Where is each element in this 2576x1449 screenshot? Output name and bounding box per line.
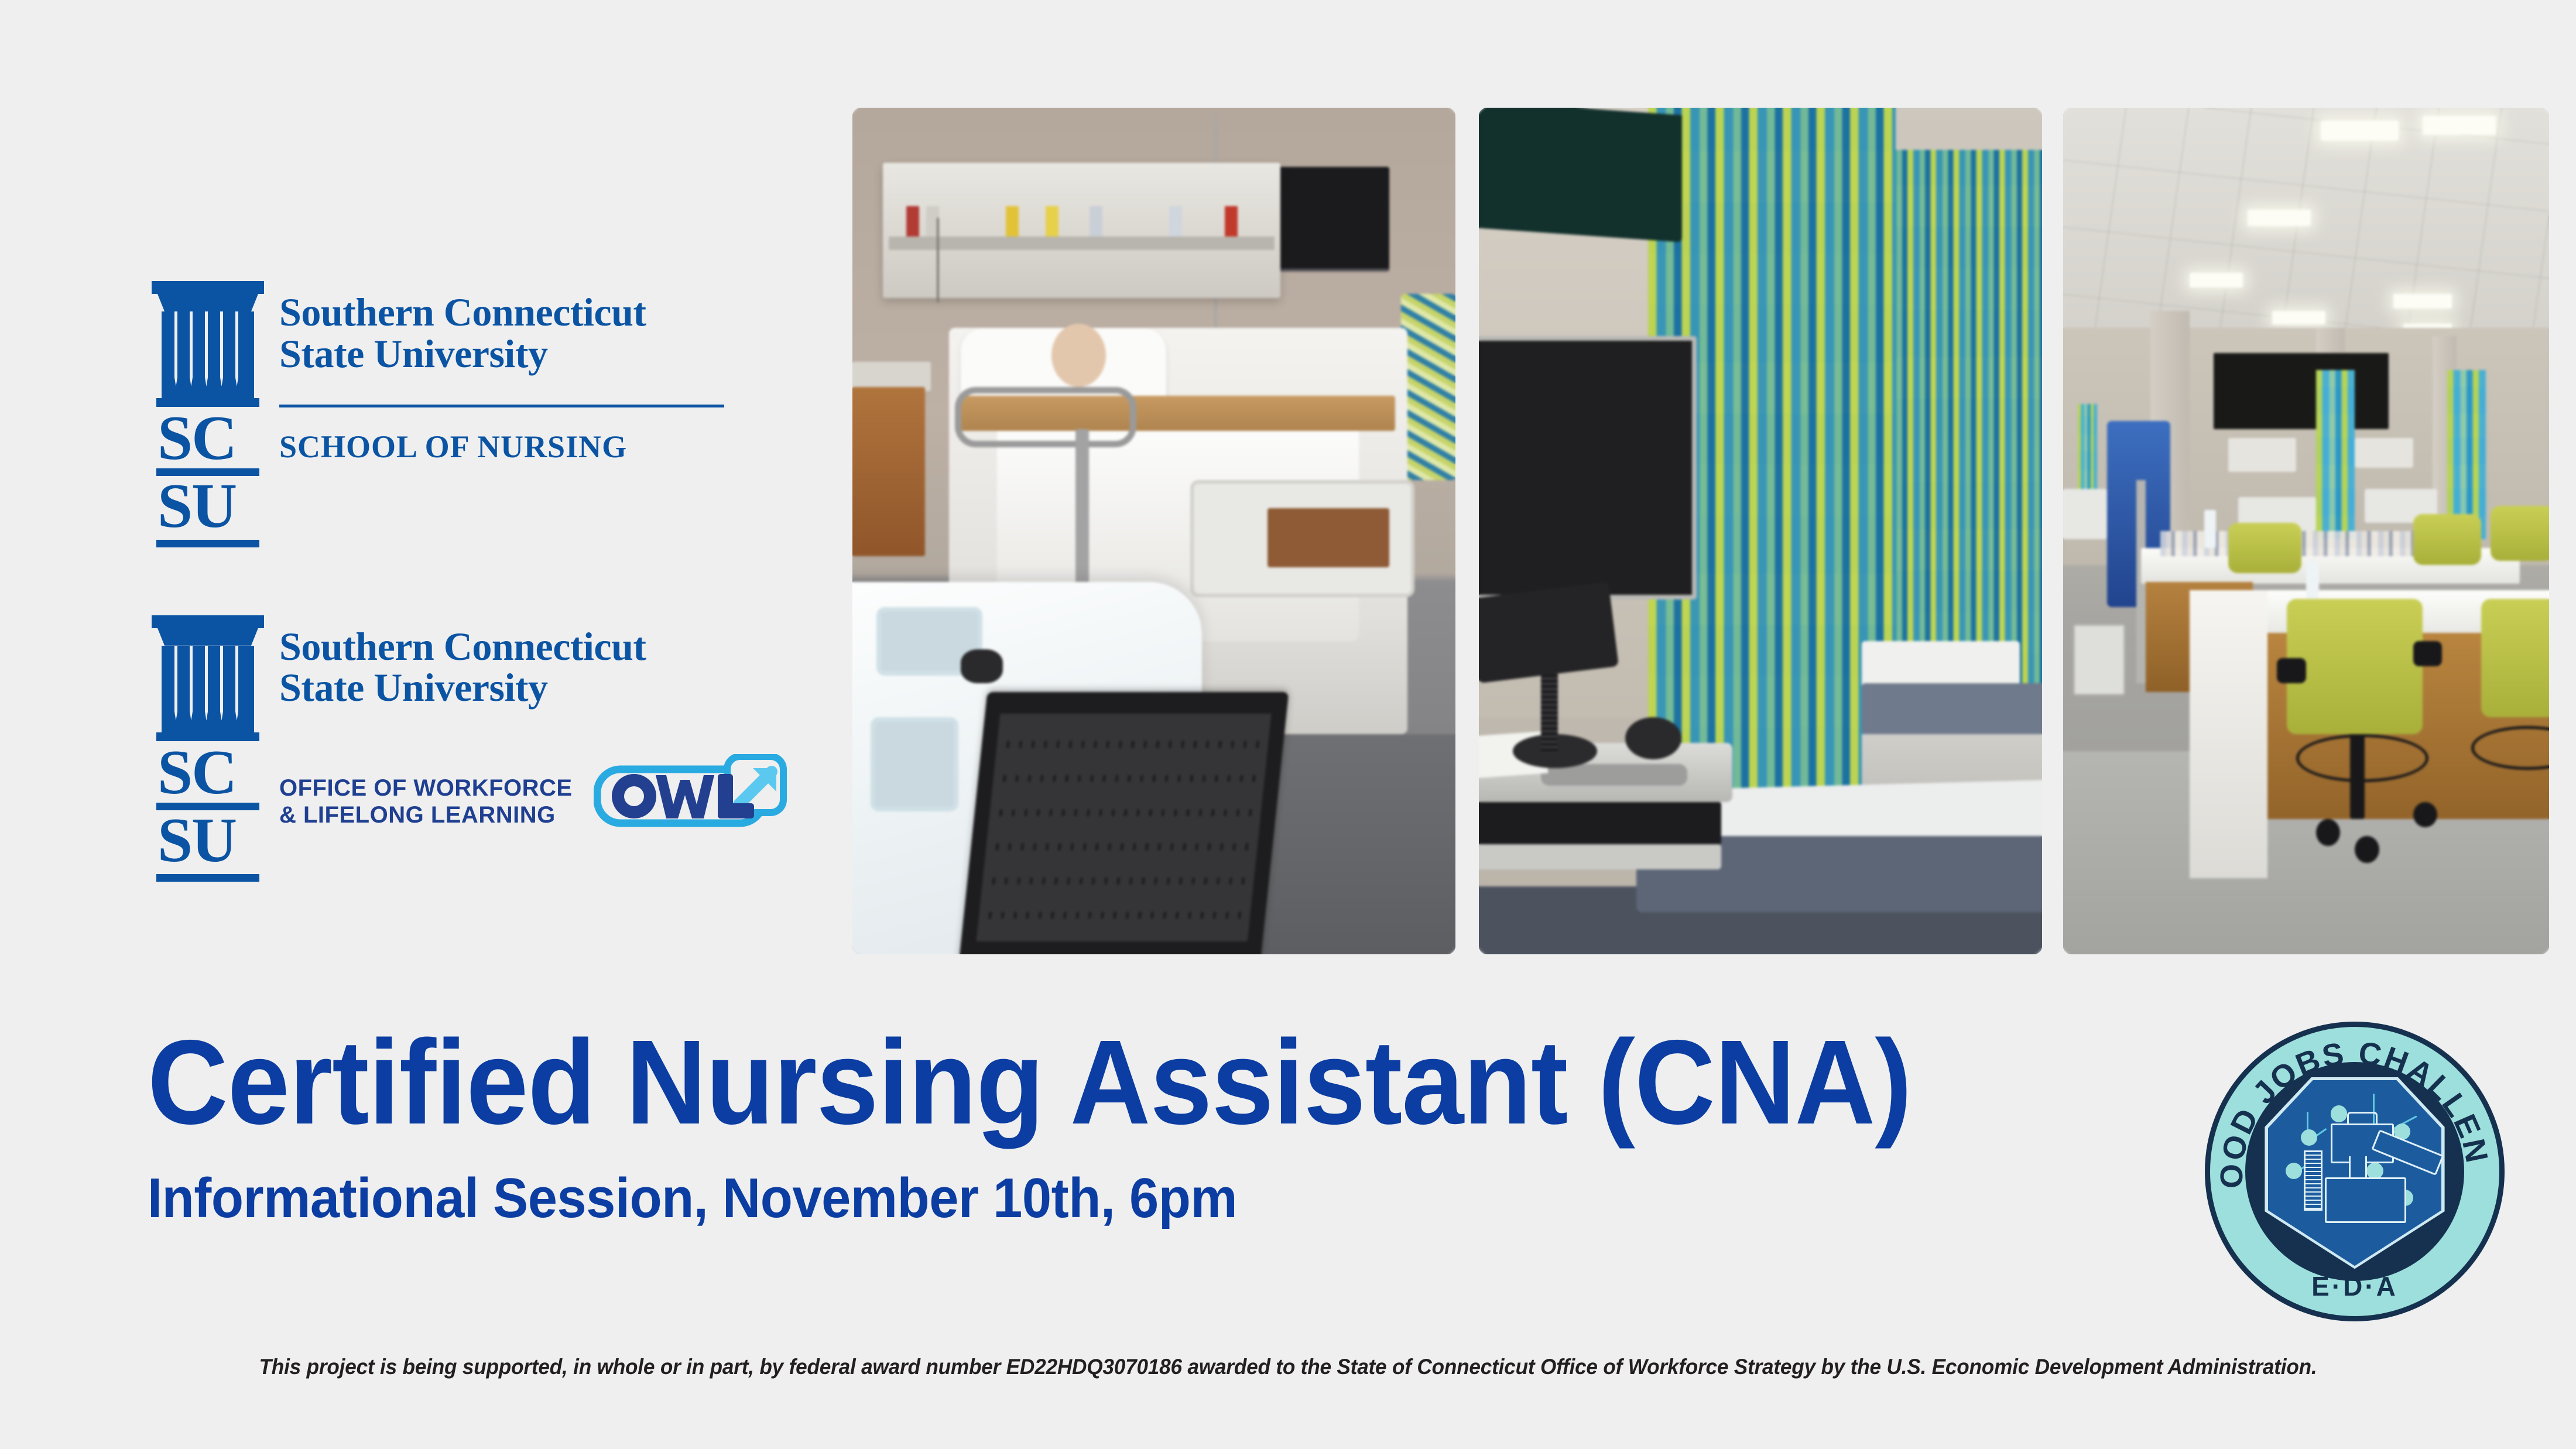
- unit-name-line-2: & LIFELONG LEARNING: [279, 801, 573, 828]
- university-name-line-2: State University: [279, 667, 793, 708]
- university-name-line-2: State University: [279, 333, 793, 375]
- badge-circuit-node: [2366, 1163, 2383, 1179]
- headline-block: Certified Nursing Assistant (CNA) Inform…: [148, 1022, 2150, 1227]
- column-capital-icon: [152, 615, 264, 646]
- photo-sim-patient-room-scene: [852, 108, 1455, 954]
- scsu-monogram-bottom: SU: [157, 479, 266, 534]
- photo-exam-bay-curtain: [1479, 108, 2042, 954]
- column-shaft-icon: [162, 311, 254, 398]
- scsu-column-mark-owl: SC SU: [149, 615, 266, 885]
- unit-name-line-1: OFFICE OF WORKFORCE: [279, 775, 573, 801]
- logo-scsu-owl[interactable]: SC SU Southern Connecticut State Univers…: [149, 615, 793, 885]
- page-subtitle: Informational Session, November 10th, 6p…: [148, 1170, 2030, 1227]
- badge-ruler-icon: [2304, 1150, 2322, 1211]
- badge-circuit-node: [2331, 1105, 2347, 1122]
- logo-scsu-school-of-nursing[interactable]: SC SU Southern Connecticut State Univers…: [149, 281, 793, 551]
- page-title: Certified Nursing Assistant (CNA): [148, 1022, 2010, 1142]
- scsu-wordmark-owl: Southern Connecticut State University OF…: [279, 615, 793, 885]
- scsu-monogram-top: SC: [157, 412, 266, 466]
- university-name-line-1: Southern Connecticut: [279, 292, 793, 333]
- photo-exam-bay-curtain-scene: [1479, 108, 2042, 954]
- badge-agency-label: E·D·A: [2205, 1270, 2505, 1302]
- unit-name-workforce: OFFICE OF WORKFORCE & LIFELONG LEARNING: [279, 775, 573, 828]
- funding-disclaimer: This project is being supported, in whol…: [64, 1355, 2512, 1379]
- logo-divider-rule: [279, 405, 724, 407]
- photo-skills-lab: [2063, 108, 2549, 954]
- owl-unit-block: OFFICE OF WORKFORCE & LIFELONG LEARNING: [279, 754, 793, 828]
- scsu-monogram-bottom: SU: [157, 814, 266, 868]
- flyer-canvas: SC SU Southern Connecticut State Univers…: [0, 0, 2576, 1449]
- unit-name-school-of-nursing: SCHOOL OF NURSING: [279, 429, 793, 465]
- column-shaft-icon: [162, 646, 254, 732]
- university-name-line-1: Southern Connecticut: [279, 626, 793, 667]
- photo-skills-lab-scene: [2063, 108, 2549, 954]
- owl-logo-icon[interactable]: [594, 754, 787, 832]
- column-capital-icon: [152, 281, 264, 311]
- photo-sim-patient-room: [852, 108, 1455, 954]
- good-jobs-challenge-badge: GOOD JOBS CHALLENGE E·D·A: [2205, 1022, 2505, 1321]
- logo-stack: SC SU Southern Connecticut State Univers…: [149, 281, 793, 885]
- scsu-wordmark: Southern Connecticut State University SC…: [279, 281, 793, 551]
- scsu-monogram-owl: SC SU: [157, 746, 266, 882]
- scsu-monogram: SC SU: [157, 412, 266, 547]
- scsu-column-mark: SC SU: [149, 281, 266, 551]
- scsu-monogram-top: SC: [157, 746, 266, 800]
- badge-base-box: [2325, 1177, 2406, 1223]
- badge-circuit-node: [2286, 1163, 2302, 1179]
